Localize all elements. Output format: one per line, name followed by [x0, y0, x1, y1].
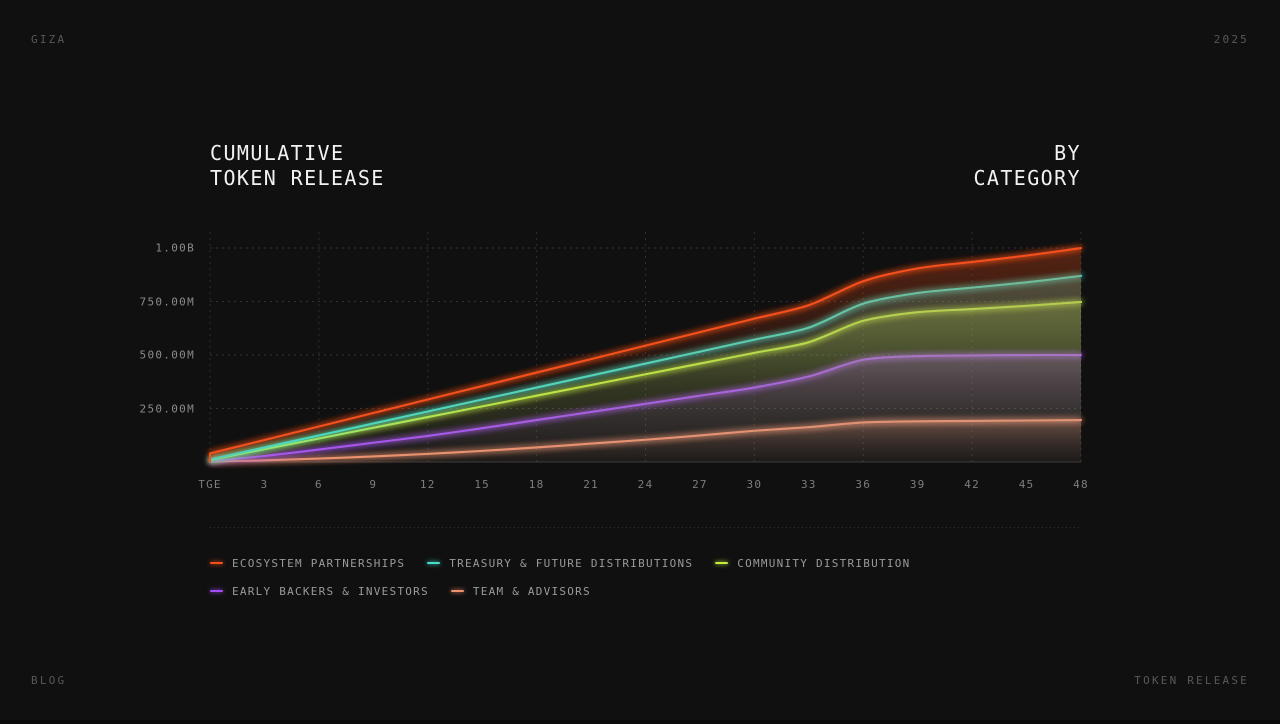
legend-divider — [210, 527, 1081, 528]
x-axis-tick-label: 3 — [261, 478, 269, 491]
legend-item[interactable]: TREASURY & FUTURE DISTRIBUTIONS — [427, 552, 693, 574]
x-axis: TGE36912151821242730333639424548 — [210, 478, 1081, 494]
legend-label: TREASURY & FUTURE DISTRIBUTIONS — [449, 557, 693, 570]
legend-item[interactable]: ECOSYSTEM PARTNERSHIPS — [210, 552, 405, 574]
x-axis-tick-label: 39 — [910, 478, 926, 491]
x-axis-tick-label: 33 — [801, 478, 817, 491]
legend-color-swatch — [427, 562, 440, 564]
x-axis-tick-label: 42 — [964, 478, 980, 491]
legend-color-swatch — [210, 590, 223, 592]
x-axis-tick-label: 36 — [855, 478, 871, 491]
y-axis-tick-label: 500.00M — [0, 349, 195, 362]
legend-label: TEAM & ADVISORS — [473, 585, 591, 598]
legend-color-swatch — [715, 562, 728, 564]
x-axis-tick-label: 9 — [369, 478, 377, 491]
x-axis-tick-label: TGE — [198, 478, 221, 491]
x-axis-tick-label: 6 — [315, 478, 323, 491]
legend-item[interactable]: TEAM & ADVISORS — [451, 580, 591, 602]
x-axis-tick-label: 18 — [529, 478, 545, 491]
legend-label: ECOSYSTEM PARTNERSHIPS — [232, 557, 405, 570]
legend-color-swatch — [210, 562, 223, 564]
chart-legend: ECOSYSTEM PARTNERSHIPSTREASURY & FUTURE … — [210, 552, 1110, 602]
legend-item[interactable]: COMMUNITY DISTRIBUTION — [715, 552, 910, 574]
x-axis-tick-label: 24 — [638, 478, 654, 491]
x-axis-tick-label: 21 — [583, 478, 599, 491]
y-axis-tick-label: 250.00M — [0, 402, 195, 415]
legend-label: EARLY BACKERS & INVESTORS — [232, 585, 429, 598]
x-axis-tick-label: 45 — [1019, 478, 1035, 491]
legend-label: COMMUNITY DISTRIBUTION — [737, 557, 910, 570]
x-axis-tick-label: 48 — [1073, 478, 1089, 491]
legend-color-swatch — [451, 590, 464, 592]
x-axis-tick-label: 27 — [692, 478, 708, 491]
x-axis-tick-label: 30 — [747, 478, 763, 491]
y-axis-tick-label: 1.00B — [0, 242, 195, 255]
y-axis-tick-label: 750.00M — [0, 295, 195, 308]
legend-item[interactable]: EARLY BACKERS & INVESTORS — [210, 580, 429, 602]
x-axis-tick-label: 15 — [474, 478, 490, 491]
x-axis-tick-label: 12 — [420, 478, 436, 491]
